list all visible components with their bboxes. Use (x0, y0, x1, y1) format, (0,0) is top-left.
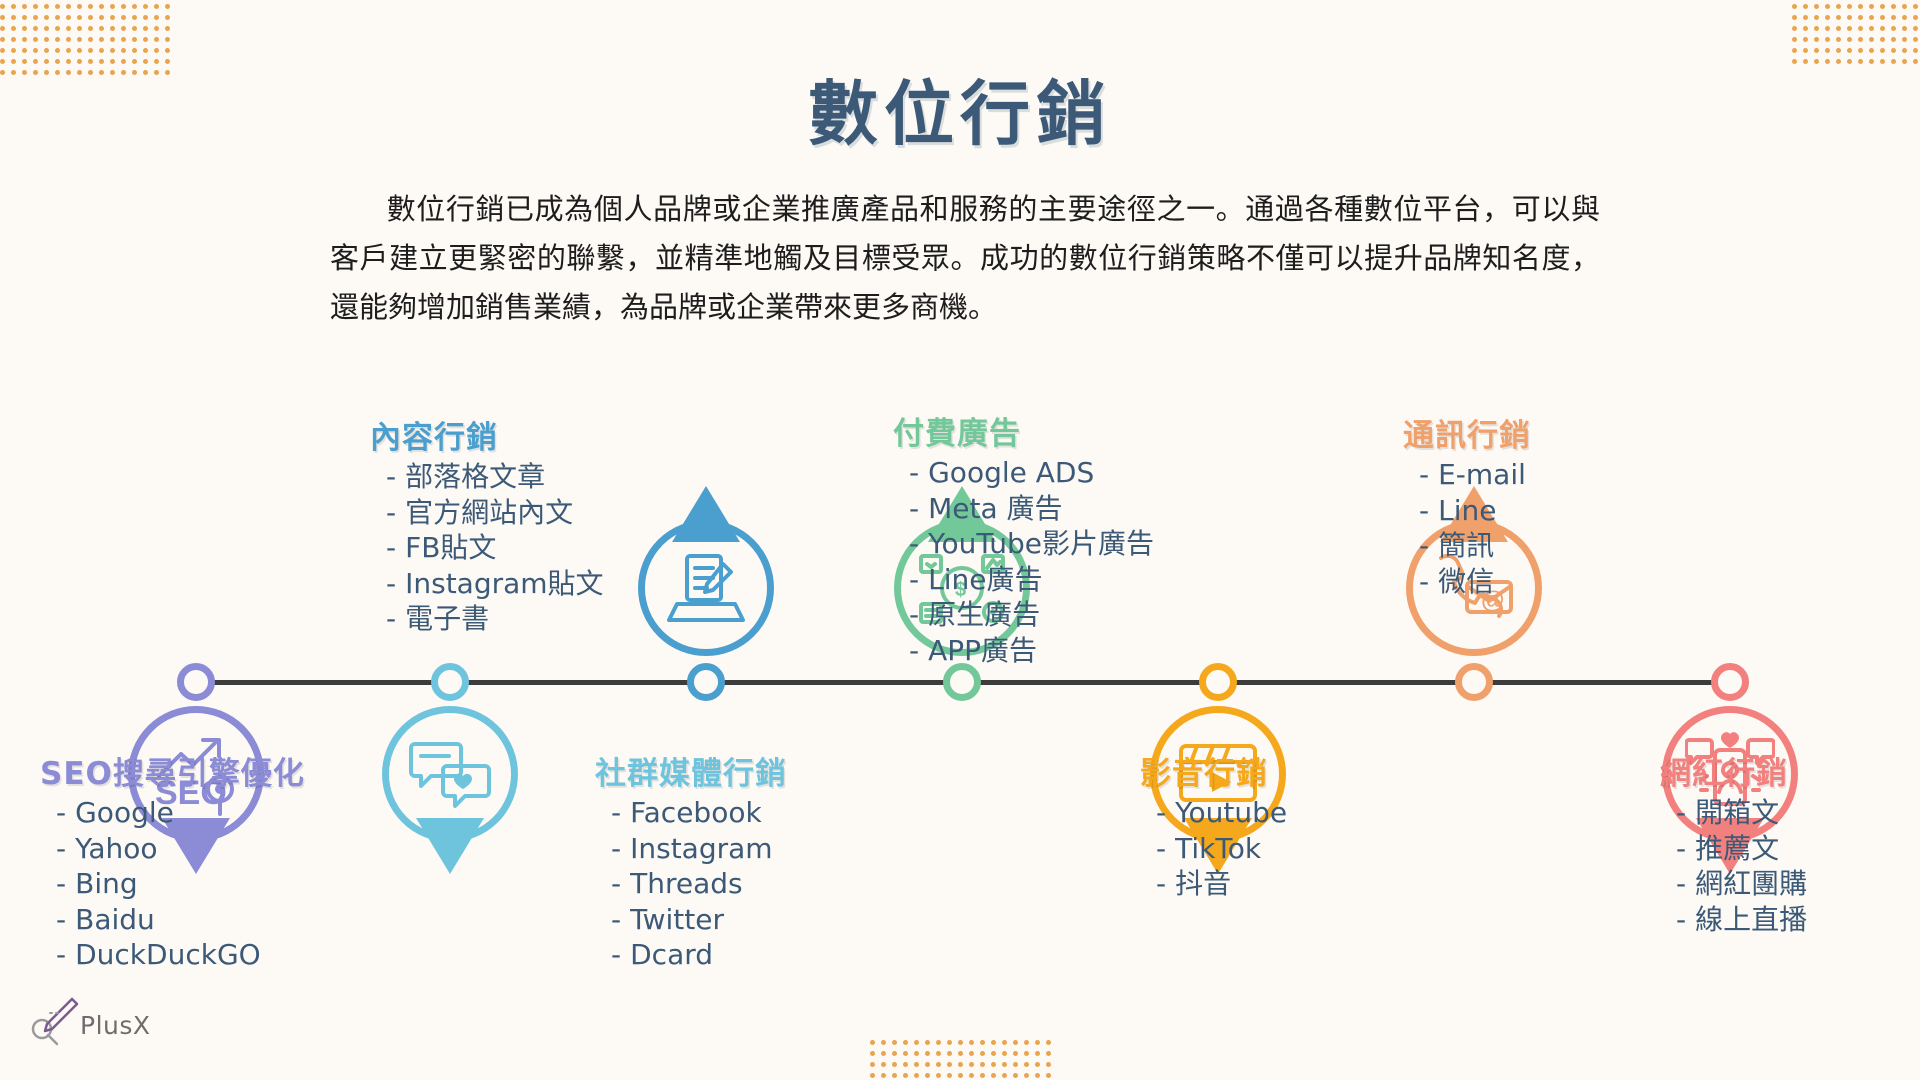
channel-heading-seo: SEO搜尋引擎優化 (40, 748, 340, 793)
channel-list-influencer: -開箱文-推薦文-網紅團購-線上直播 (1660, 795, 1920, 937)
list-item-label: Baidu (75, 903, 155, 936)
list-item: -Instagram (611, 831, 895, 867)
logo-text: PlusX (80, 1011, 151, 1040)
list-item-label: 原生廣告 (928, 598, 1040, 631)
bullet-dash: - (1419, 494, 1429, 527)
channel-block-messaging: 通訊行銷-E-mail-Line-簡訊-微信 (1403, 410, 1703, 599)
timeline-node-content[interactable] (687, 663, 725, 701)
list-item-label: 線上直播 (1695, 903, 1807, 936)
channel-heading-social: 社群媒體行銷 (595, 748, 895, 793)
bullet-dash: - (1419, 529, 1429, 562)
list-item-label: 開箱文 (1695, 796, 1779, 829)
list-item: -抖音 (1156, 866, 1440, 902)
list-item-label: Bing (75, 867, 138, 900)
chat-bubbles-heart-icon (405, 732, 495, 816)
list-item: -Twitter (611, 902, 895, 938)
list-item-label: Twitter (630, 903, 724, 936)
bullet-dash: - (909, 456, 919, 489)
bullet-dash: - (611, 867, 621, 900)
list-item: -網紅團購 (1676, 866, 1920, 902)
brand-logo: PlusX (28, 995, 178, 1055)
bullet-dash: - (386, 602, 396, 635)
list-item-label: Google (75, 796, 174, 829)
channel-heading-messaging: 通訊行銷 (1403, 410, 1703, 455)
list-item-label: 官方網站內文 (405, 496, 573, 529)
list-item: -部落格文章 (386, 459, 670, 495)
list-item: -Youtube (1156, 795, 1440, 831)
bullet-dash: - (386, 460, 396, 493)
list-item: -Line (1419, 493, 1703, 529)
bullet-dash: - (1419, 565, 1429, 598)
list-item-label: Youtube (1175, 796, 1287, 829)
list-item-label: 網紅團購 (1695, 867, 1807, 900)
bullet-dash: - (1156, 832, 1166, 865)
list-item: -線上直播 (1676, 902, 1920, 938)
bullet-dash: - (611, 938, 621, 971)
bullet-dash: - (1676, 832, 1686, 865)
channel-list-content: -部落格文章-官方網站內文-FB貼文-Instagram貼文-電子書 (370, 459, 670, 637)
bullet-dash: - (56, 938, 66, 971)
list-item: -原生廣告 (909, 597, 1193, 633)
timeline-node-social[interactable] (431, 663, 469, 701)
list-item: -FB貼文 (386, 530, 670, 566)
channel-list-paid: -Google ADS-Meta 廣告-YouTube影片廣告-Line廣告-原… (893, 455, 1193, 668)
list-item: -Google (56, 795, 340, 831)
channel-block-influencer: 網紅行銷-開箱文-推薦文-網紅團購-線上直播 (1660, 748, 1920, 937)
list-item-label: E-mail (1438, 458, 1526, 491)
list-item-label: Threads (630, 867, 743, 900)
timeline-node-seo[interactable] (177, 663, 215, 701)
bullet-dash: - (56, 867, 66, 900)
list-item: -微信 (1419, 564, 1703, 600)
list-item: -Threads (611, 866, 895, 902)
list-item-label: Yahoo (75, 832, 157, 865)
channel-heading-content: 內容行銷 (370, 412, 670, 457)
list-item-label: 部落格文章 (405, 460, 545, 493)
bullet-dash: - (909, 598, 919, 631)
bullet-dash: - (611, 796, 621, 829)
bullet-dash: - (1156, 796, 1166, 829)
list-item-label: FB貼文 (405, 531, 496, 564)
list-item: -Meta 廣告 (909, 491, 1193, 527)
channel-block-video: 影音行銷-Youtube-TikTok-抖音 (1140, 748, 1440, 902)
channel-list-social: -Facebook-Instagram-Threads-Twitter-Dcar… (595, 795, 895, 973)
bullet-dash: - (386, 567, 396, 600)
list-item-label: Instagram (630, 832, 772, 865)
list-item-label: TikTok (1175, 832, 1261, 865)
page-title: 數位行銷 (0, 58, 1920, 159)
bullet-dash: - (56, 832, 66, 865)
channel-block-social: 社群媒體行銷-Facebook-Instagram-Threads-Twitte… (595, 748, 895, 973)
list-item-label: 推薦文 (1695, 832, 1779, 865)
bullet-dash: - (909, 563, 919, 596)
list-item-label: DuckDuckGO (75, 938, 261, 971)
channel-block-seo: SEO搜尋引擎優化-Google-Yahoo-Bing-Baidu-DuckDu… (40, 748, 340, 973)
bullet-dash: - (1676, 903, 1686, 936)
list-item-label: Line (1438, 494, 1496, 527)
list-item-label: Facebook (630, 796, 762, 829)
infographic-canvas: 數位行銷 數位行銷已成為個人品牌或企業推廣產品和服務的主要途徑之一。通過各種數位… (0, 0, 1920, 1080)
list-item: -官方網站內文 (386, 495, 670, 531)
list-item-label: Dcard (630, 938, 713, 971)
list-item: -YouTube影片廣告 (909, 526, 1193, 562)
channel-heading-influencer: 網紅行銷 (1660, 748, 1920, 793)
list-item-label: 微信 (1438, 565, 1494, 598)
list-item-label: Google ADS (928, 456, 1094, 489)
list-item: -電子書 (386, 601, 670, 637)
list-item: -Google ADS (909, 455, 1193, 491)
list-item: -Bing (56, 866, 340, 902)
list-item: -Baidu (56, 902, 340, 938)
list-item-label: Meta 廣告 (928, 492, 1062, 525)
timeline-node-messaging[interactable] (1455, 663, 1493, 701)
list-item: -E-mail (1419, 457, 1703, 493)
bullet-dash: - (1676, 867, 1686, 900)
bullet-dash: - (909, 492, 919, 525)
marker-tip (672, 486, 740, 542)
bullet-dash: - (611, 832, 621, 865)
intro-text: 數位行銷已成為個人品牌或企業推廣產品和服務的主要途徑之一。通過各種數位平台，可以… (330, 192, 1600, 324)
list-item: -DuckDuckGO (56, 937, 340, 973)
bullet-dash: - (386, 531, 396, 564)
list-item-label: 電子書 (405, 602, 489, 635)
list-item: -Line廣告 (909, 562, 1193, 598)
list-item: -開箱文 (1676, 795, 1920, 831)
channel-list-messaging: -E-mail-Line-簡訊-微信 (1403, 457, 1703, 599)
magnifier-pencil-icon (28, 995, 80, 1047)
list-item: -TikTok (1156, 831, 1440, 867)
timeline-node-paid[interactable] (943, 663, 981, 701)
channel-heading-paid: 付費廣告 (893, 408, 1193, 453)
list-item: -Instagram貼文 (386, 566, 670, 602)
bullet-dash: - (611, 903, 621, 936)
list-item: -簡訊 (1419, 528, 1703, 564)
intro-paragraph: 數位行銷已成為個人品牌或企業推廣產品和服務的主要途徑之一。通過各種數位平台，可以… (330, 185, 1600, 332)
timeline-node-video[interactable] (1199, 663, 1237, 701)
list-item: -推薦文 (1676, 831, 1920, 867)
list-item: -Yahoo (56, 831, 340, 867)
timeline-node-influencer[interactable] (1711, 663, 1749, 701)
list-item-label: 抖音 (1175, 867, 1231, 900)
channel-list-video: -Youtube-TikTok-抖音 (1140, 795, 1440, 902)
channel-list-seo: -Google-Yahoo-Bing-Baidu-DuckDuckGO (40, 795, 340, 973)
channel-heading-video: 影音行銷 (1140, 748, 1440, 793)
bullet-dash: - (386, 496, 396, 529)
channel-block-content: 內容行銷-部落格文章-官方網站內文-FB貼文-Instagram貼文-電子書 (370, 412, 670, 637)
channel-block-paid: 付費廣告-Google ADS-Meta 廣告-YouTube影片廣告-Line… (893, 408, 1193, 668)
list-item-label: Line廣告 (928, 563, 1042, 596)
bullet-dash: - (56, 903, 66, 936)
bullet-dash: - (1156, 867, 1166, 900)
bullet-dash: - (56, 796, 66, 829)
list-item-label: Instagram貼文 (405, 567, 603, 600)
list-item: -APP廣告 (909, 633, 1193, 669)
bullet-dash: - (1419, 458, 1429, 491)
bullet-dash: - (1676, 796, 1686, 829)
list-item-label: YouTube影片廣告 (928, 527, 1154, 560)
list-item: -Dcard (611, 937, 895, 973)
bullet-dash: - (909, 634, 919, 667)
channel-marker-social[interactable] (382, 706, 518, 876)
laptop-document-pen-icon (661, 546, 751, 630)
marker-tip (416, 818, 484, 874)
list-item-label: APP廣告 (928, 634, 1037, 667)
list-item-label: 簡訊 (1438, 529, 1494, 562)
list-item: -Facebook (611, 795, 895, 831)
bullet-dash: - (909, 527, 919, 560)
